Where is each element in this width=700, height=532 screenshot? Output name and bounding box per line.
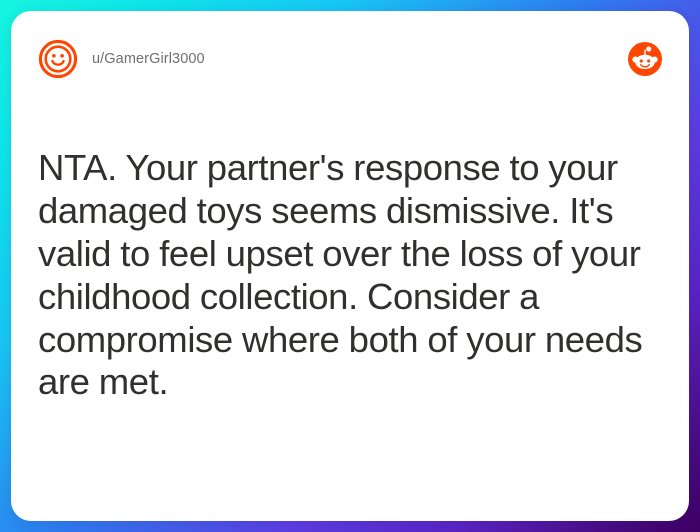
- username-label: u/GamerGirl3000: [92, 51, 205, 67]
- smiley-face-icon: [38, 39, 78, 79]
- post-text: NTA. Your partner's response to your dam…: [38, 147, 667, 404]
- card-body: NTA. Your partner's response to your dam…: [38, 147, 667, 404]
- gradient-background: u/GamerGirl3000: [0, 0, 700, 532]
- avatar[interactable]: [38, 39, 78, 79]
- reddit-snoo-icon: [628, 42, 662, 76]
- reddit-post-card: u/GamerGirl3000: [11, 11, 689, 521]
- card-header: u/GamerGirl3000: [11, 11, 689, 107]
- brand-logo[interactable]: [628, 42, 662, 76]
